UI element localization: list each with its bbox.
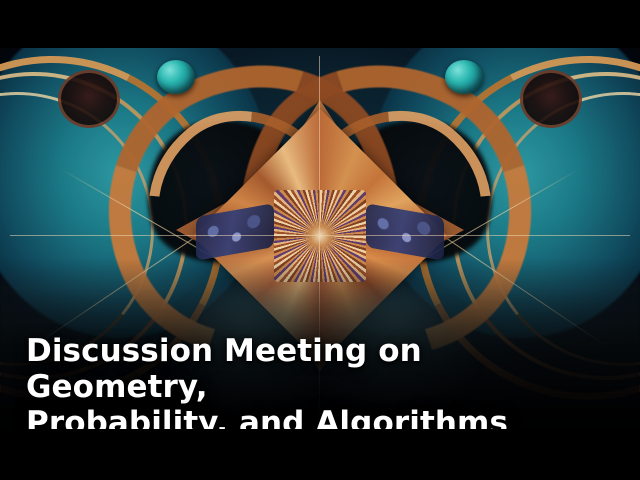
- title-overlay: Discussion Meeting on Geometry, Probabil…: [0, 334, 640, 442]
- radial-starburst-core: [302, 218, 338, 254]
- dark-iris-left: [58, 70, 120, 128]
- letterbox-bar-top: [0, 0, 640, 48]
- dark-iris-right: [520, 70, 582, 128]
- video-title: Discussion Meeting on Geometry, Probabil…: [26, 334, 614, 442]
- turquoise-sphere-right: [445, 60, 483, 94]
- gold-axis-horizontal: [10, 235, 630, 236]
- turquoise-sphere-left: [157, 60, 195, 94]
- letterbox-bar-bottom: [0, 429, 640, 480]
- video-thumbnail-frame[interactable]: Discussion Meeting on Geometry, Probabil…: [0, 0, 640, 480]
